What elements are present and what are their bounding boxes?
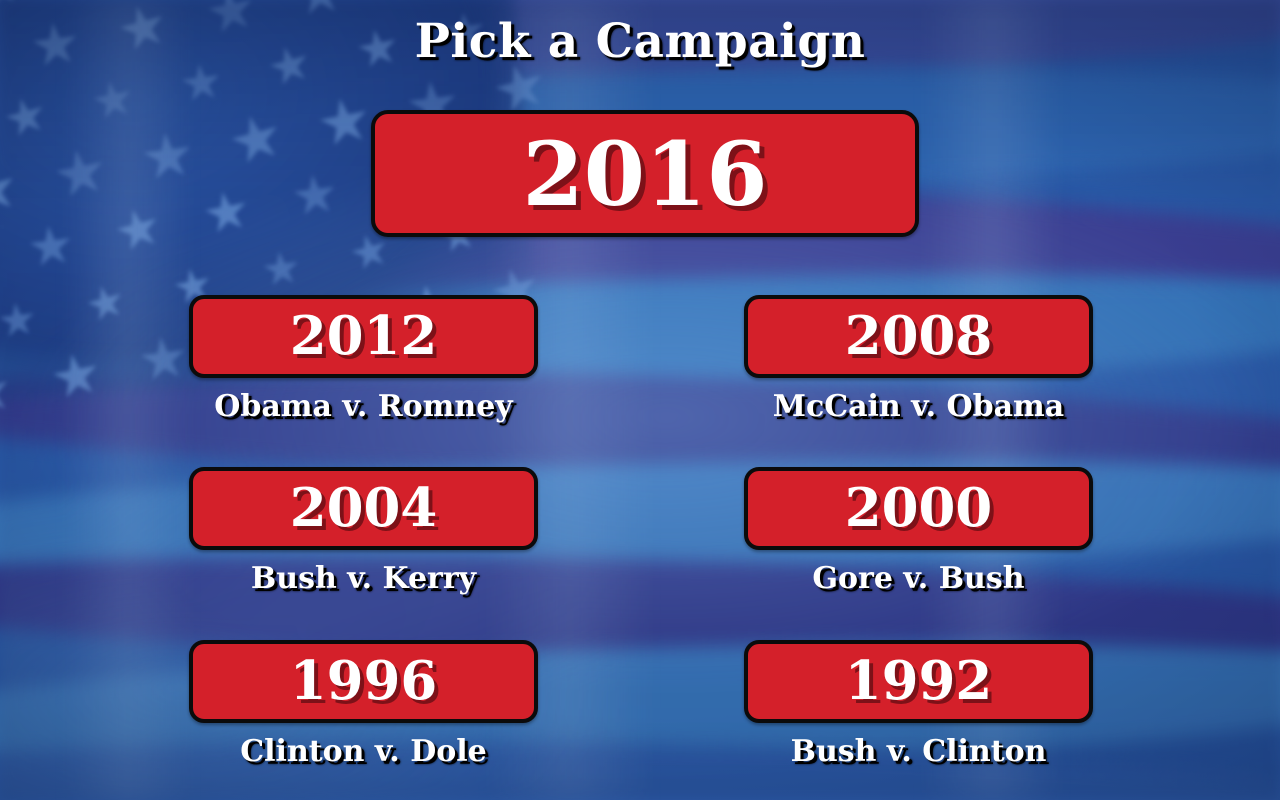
campaign-year-label: 2016	[523, 130, 768, 218]
campaign-matchup-label: Gore v. Bush	[744, 561, 1093, 596]
campaign-year-label: 2012	[290, 310, 438, 363]
campaign-year-label: 1992	[845, 655, 993, 708]
campaign-matchup-label: Clinton v. Dole	[189, 734, 538, 769]
campaign-year-label: 1996	[290, 655, 438, 708]
campaign-year-label: 2008	[845, 310, 993, 363]
campaign-button-2008[interactable]: 2008	[744, 295, 1093, 378]
campaign-button-2016[interactable]: 2016	[371, 110, 919, 237]
campaign-matchup-label: Bush v. Clinton	[744, 734, 1093, 769]
campaign-matchup-label: Bush v. Kerry	[189, 561, 538, 596]
campaign-button-1992[interactable]: 1992	[744, 640, 1093, 723]
campaign-year-label: 2004	[290, 482, 438, 535]
campaign-matchup-label: Obama v. Romney	[189, 389, 538, 424]
campaign-picker-screen: Pick a Campaign 2016 2012 Obama v. Romne…	[0, 0, 1280, 800]
campaign-button-2004[interactable]: 2004	[189, 467, 538, 550]
campaign-button-2012[interactable]: 2012	[189, 295, 538, 378]
campaign-button-1996[interactable]: 1996	[189, 640, 538, 723]
campaign-matchup-label: McCain v. Obama	[744, 389, 1093, 424]
campaign-button-2000[interactable]: 2000	[744, 467, 1093, 550]
page-title: Pick a Campaign	[0, 14, 1280, 69]
campaign-year-label: 2000	[845, 482, 993, 535]
